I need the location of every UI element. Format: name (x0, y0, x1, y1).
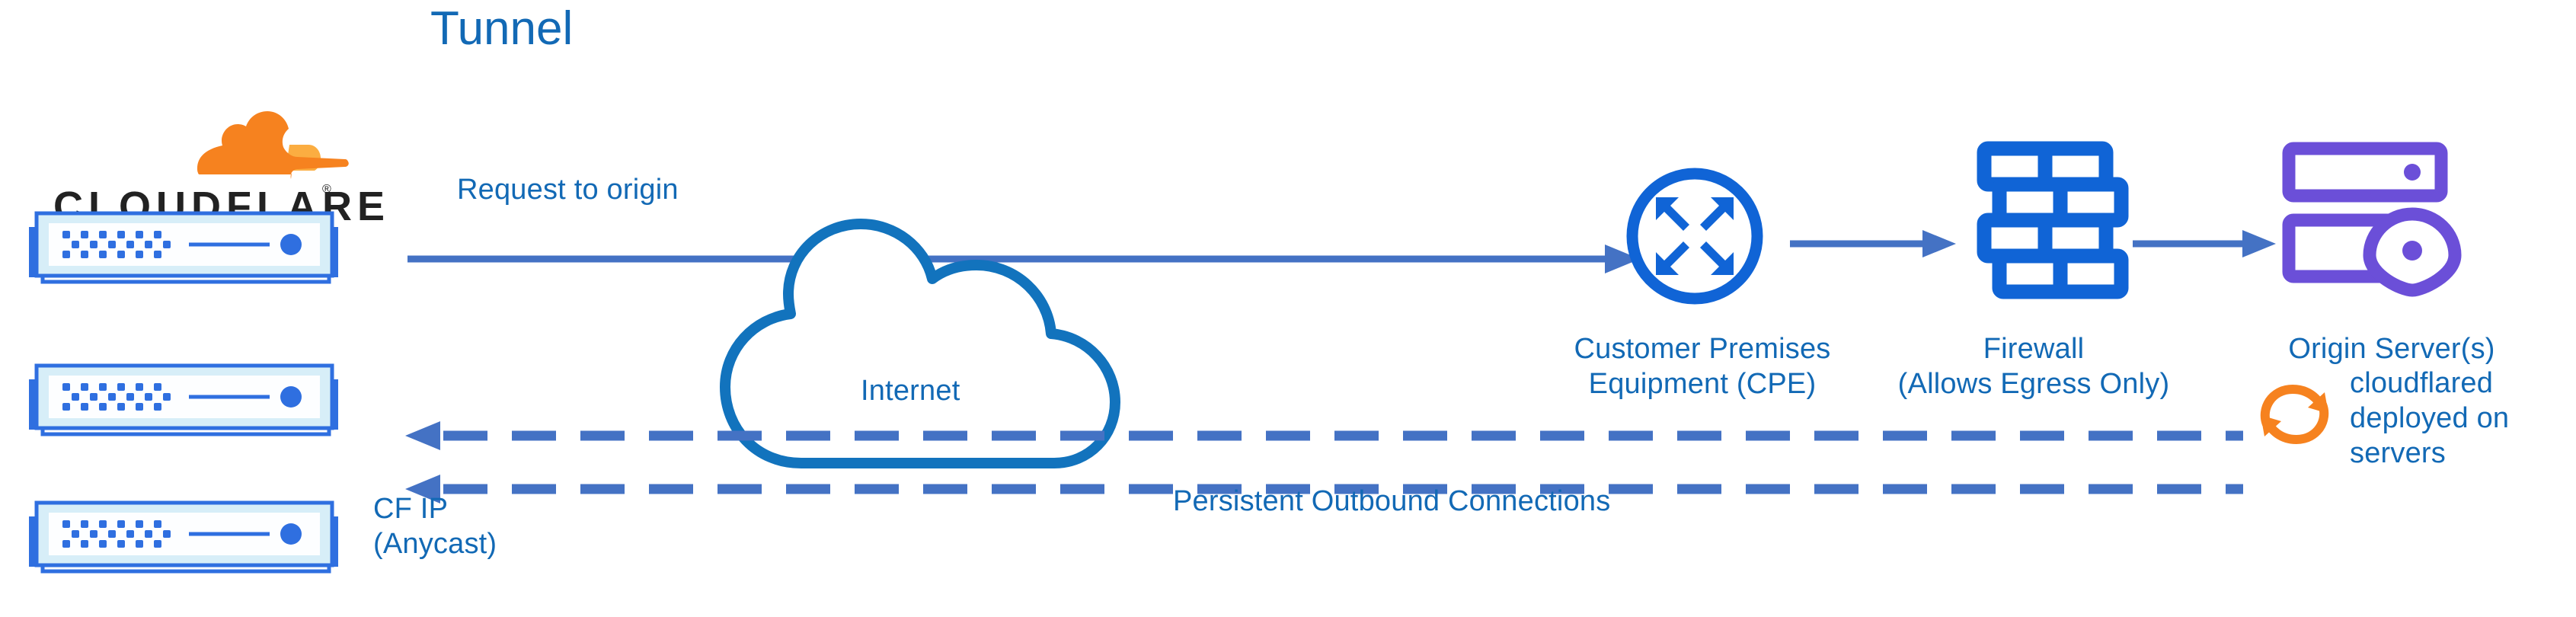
registered-mark-icon: ® (322, 183, 331, 197)
request-flow-label: Request to origin (457, 172, 679, 207)
cloudflare-logo: CLOUDFLARE ® (23, 107, 328, 213)
firewall-label: Firewall (Allows Egress Only) (1858, 331, 2209, 401)
firewall-to-origin-arrow (2133, 232, 2277, 255)
list-item (15, 358, 350, 449)
persistent-connections-label: Persistent Outbound Connections (1173, 484, 1610, 519)
list-item (15, 495, 350, 587)
brick-wall-icon (1977, 141, 2129, 297)
server-location-pin-icon (2281, 141, 2456, 293)
origin-label: Origin Server(s) (2255, 331, 2529, 366)
diagram-canvas: Tunnel CLOUDFLARE ® (0, 0, 2576, 617)
cloudflared-label: cloudflared deployed on servers (2350, 366, 2571, 471)
four-arrows-circle-icon (1622, 164, 1767, 308)
internet-label: Internet (861, 373, 960, 408)
cloudflare-cloud-icon (194, 107, 339, 187)
list-item (15, 206, 350, 297)
return-flow-dashed-line-1 (404, 423, 2247, 449)
cpe-label: Customer Premises Equipment (CPE) (1535, 331, 1870, 401)
sync-refresh-icon (2255, 377, 2335, 453)
cf-ip-label: CF IP (Anycast) (373, 491, 497, 561)
cpe-to-firewall-arrow (1790, 232, 1958, 255)
page-title: Tunnel (430, 0, 573, 58)
